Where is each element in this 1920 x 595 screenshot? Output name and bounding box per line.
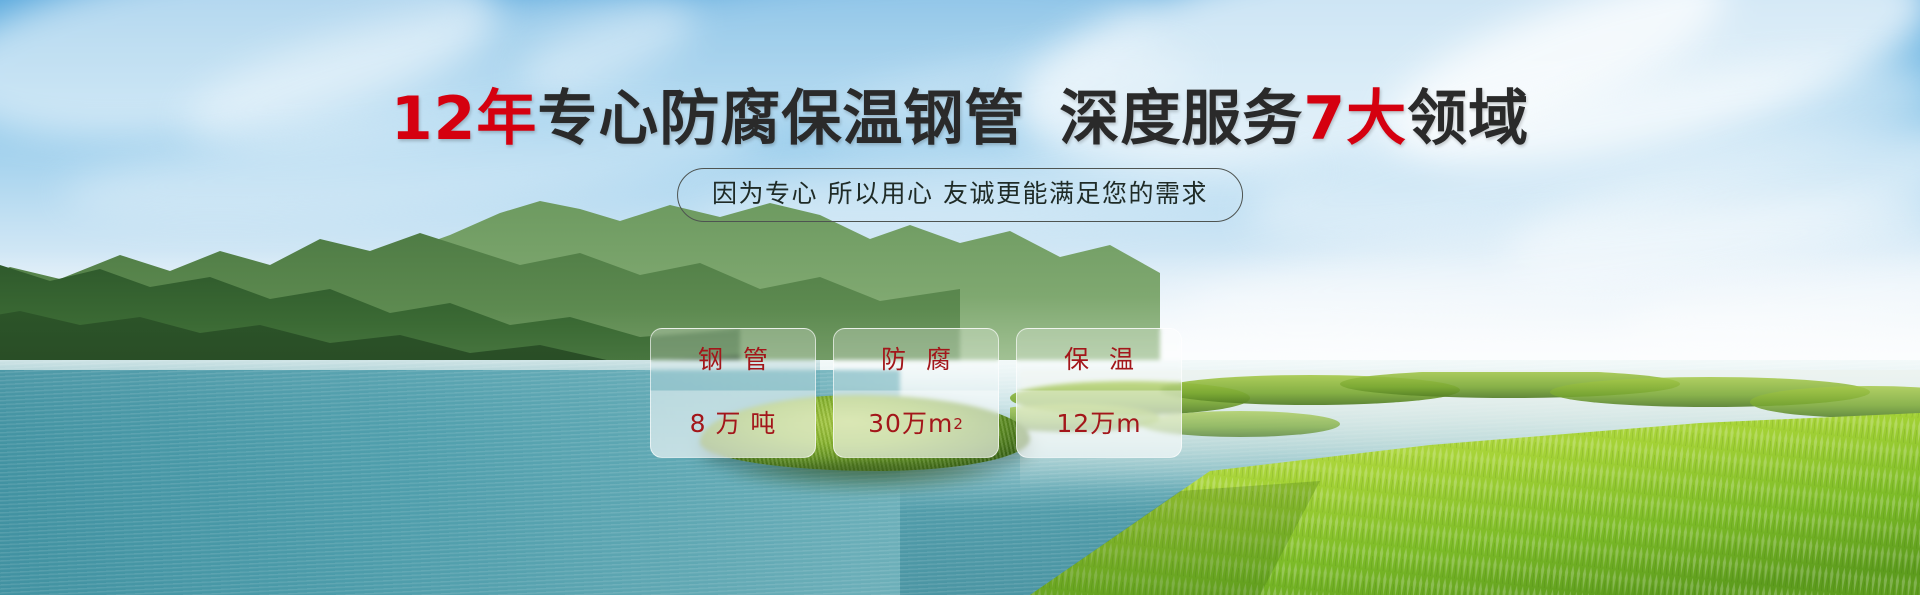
stat-card-title: 钢 管 — [692, 329, 774, 390]
subtitle-pill: 因为专心 所以用心 友诚更能满足您的需求 — [677, 168, 1243, 222]
stat-card-value: 30万m2 — [868, 390, 964, 457]
stat-card-value: 12万m — [1056, 390, 1141, 457]
headline: 12年专心防腐保温钢管深度服务7大领域 — [0, 84, 1920, 154]
headline-seven: 7大 — [1303, 84, 1407, 154]
stat-cards: 钢 管 8 万 吨 防 腐 30万m2 保 温 12万m — [650, 328, 1182, 458]
stat-card-anticorrosion[interactable]: 防 腐 30万m2 — [833, 328, 999, 458]
stat-card-insulation[interactable]: 保 温 12万m — [1016, 328, 1182, 458]
stat-value-text: 30万m — [868, 409, 953, 439]
headline-fields: 领域 — [1407, 84, 1529, 154]
stat-value-text: 8 万 吨 — [690, 409, 777, 439]
stat-card-title: 防 腐 — [875, 329, 957, 390]
stat-value-text: 12万m — [1056, 409, 1141, 439]
headline-years: 12年 — [391, 84, 538, 154]
headline-service: 深度服务 — [1059, 84, 1303, 154]
stat-card-value: 8 万 吨 — [690, 390, 777, 457]
stat-card-steel-pipe[interactable]: 钢 管 8 万 吨 — [650, 328, 816, 458]
stat-card-title: 保 温 — [1058, 329, 1140, 390]
headline-main: 专心防腐保温钢管 — [537, 84, 1025, 154]
hero-banner: 12年专心防腐保温钢管深度服务7大领域 因为专心 所以用心 友诚更能满足您的需求… — [0, 0, 1920, 595]
